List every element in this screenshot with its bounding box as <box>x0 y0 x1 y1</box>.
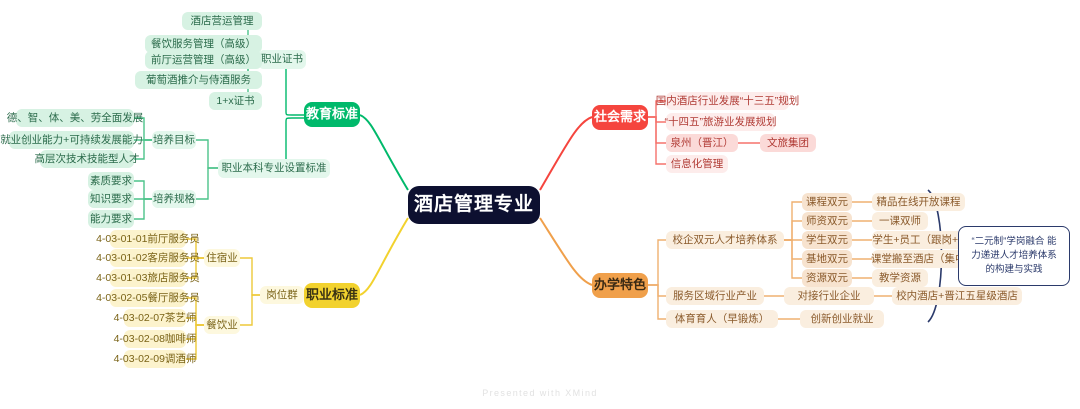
row-key[interactable]: 体育育人（早锻炼） <box>666 310 778 328</box>
leaf-item[interactable]: 国内酒店行业发展“十三五”规划 <box>666 92 789 110</box>
row-mid[interactable]: 创新创业就业 <box>800 310 884 328</box>
leaf-item[interactable]: 4-03-01-02客房服务员 <box>110 249 186 267</box>
group-dual-talent-system[interactable]: 校企双元人才培养体系 <box>666 231 784 249</box>
group-vocational-certificate[interactable]: 职业证书 <box>258 50 306 69</box>
pair-value[interactable]: 一课双师 <box>872 212 928 230</box>
subgroup-training-goal[interactable]: 培养目标 <box>152 131 196 149</box>
leaf-item[interactable]: 4-03-02-09调酒师 <box>124 350 186 368</box>
group-undergrad-standard[interactable]: 职业本科专业设置标准 <box>218 159 330 178</box>
row-mid[interactable]: 对接行业企业 <box>784 287 874 305</box>
leaf-item[interactable]: 信息化管理 <box>666 155 728 173</box>
leaf-item[interactable]: 葡萄酒推介与侍酒服务 <box>135 71 262 89</box>
xmind-watermark: Presented with XMind <box>0 388 1080 398</box>
leaf-item[interactable]: 1+x证书 <box>209 92 262 110</box>
leaf-item[interactable]: 高层次技术技能型人才 <box>40 150 134 168</box>
leaf-item[interactable]: 泉州（晋江） <box>666 134 738 152</box>
subgroup-catering[interactable]: 餐饮业 <box>204 316 240 334</box>
pair-key[interactable]: 学生双元 <box>802 231 852 249</box>
branch-school-features[interactable]: 办学特色 <box>592 273 648 298</box>
pair-value[interactable]: 教学资源 <box>872 269 928 287</box>
leaf-item[interactable]: 知识要求 <box>88 190 134 208</box>
leaf-item[interactable]: 前厅运营管理（高级） <box>145 51 262 69</box>
group-position-cluster[interactable]: 岗位群 <box>260 286 304 304</box>
leaf-item[interactable]: 酒店营运管理 <box>182 12 262 30</box>
leaf-item[interactable]: 4-03-01-03旅店服务员 <box>110 269 186 287</box>
leaf-item[interactable]: 4-03-02-05餐厅服务员 <box>110 289 186 307</box>
central-topic[interactable]: 酒店管理专业 <box>408 186 540 224</box>
pair-value[interactable]: 精品在线开放课程 <box>872 193 965 211</box>
leaf-item[interactable]: 4-03-02-08咖啡师 <box>124 330 186 348</box>
leaf-item[interactable]: 就业创业能力+可持续发展能力 <box>9 131 134 149</box>
pair-key[interactable]: 师资双元 <box>802 212 852 230</box>
leaf-item[interactable]: 4-03-02-07茶艺师 <box>124 309 186 327</box>
subgroup-accommodation[interactable]: 住宿业 <box>204 249 240 267</box>
mindmap-canvas: 酒店管理专业 教育标准 职业证书 酒店营运管理 餐饮服务管理（高级） 前厅运营管… <box>0 0 1080 409</box>
leaf-item[interactable]: 德、智、体、美、劳全面发展 <box>16 109 134 127</box>
leaf-item[interactable]: 4-03-01-01前厅服务员 <box>110 230 186 248</box>
branch-education-standard[interactable]: 教育标准 <box>304 102 360 127</box>
leaf-item[interactable]: “十四五”旅游业发展规划 <box>666 113 775 131</box>
leaf-item[interactable]: 素质要求 <box>88 172 134 190</box>
branch-social-demand[interactable]: 社会需求 <box>592 105 648 130</box>
pair-key[interactable]: 基地双元 <box>802 250 852 268</box>
pair-key[interactable]: 资源双元 <box>802 269 852 287</box>
branch-vocational-standard[interactable]: 职业标准 <box>304 283 360 308</box>
leaf-item[interactable]: 能力要求 <box>88 210 134 228</box>
subgroup-training-spec[interactable]: 培养规格 <box>152 190 196 208</box>
row-value[interactable]: 校内酒店+晋江五星级酒店 <box>892 287 1022 305</box>
row-key[interactable]: 服务区域行业产业 <box>666 287 764 305</box>
summary-callout[interactable]: “二元制”学岗融合 能力递进人才培养体系的构建与实践 <box>958 226 1070 286</box>
pair-key[interactable]: 课程双元 <box>802 193 852 211</box>
leaf-item-child[interactable]: 文旅集团 <box>760 134 816 152</box>
